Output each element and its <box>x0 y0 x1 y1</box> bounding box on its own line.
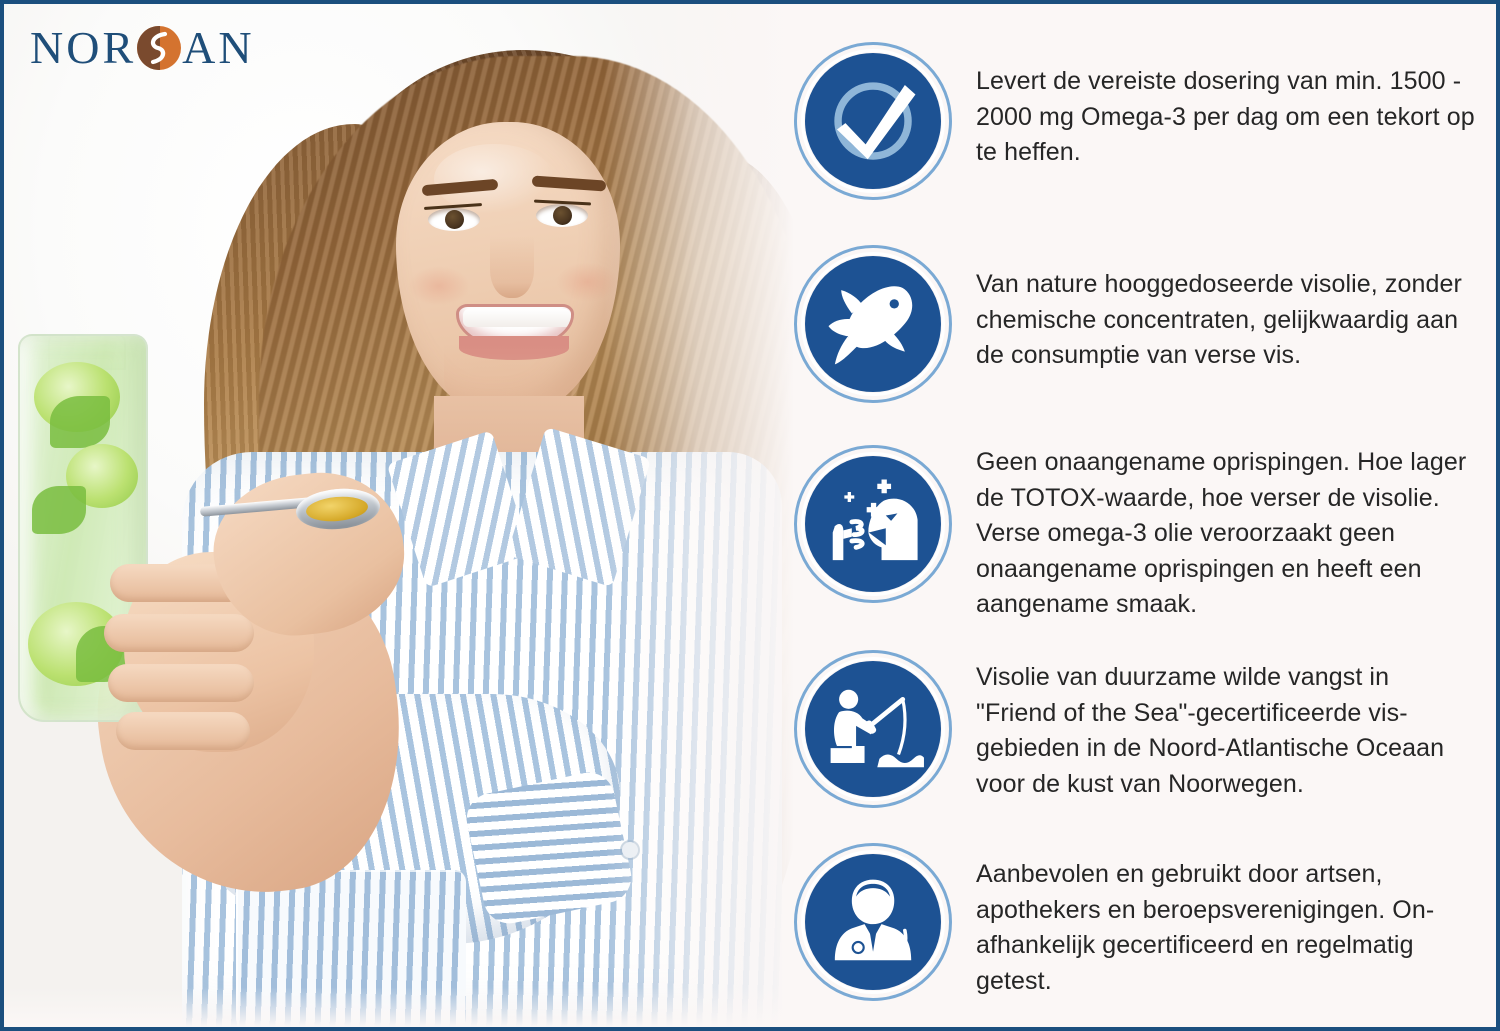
finger <box>116 712 250 750</box>
check-circle-icon <box>794 42 952 200</box>
eye-left <box>428 208 480 231</box>
feature-text: Levert de vereiste dosering van min. 150… <box>976 42 1478 171</box>
mint-leaf <box>50 396 110 448</box>
feature-text: Van nature hooggedoseerde visolie, zonde… <box>976 245 1478 374</box>
logo-text-left: NOR <box>30 25 136 71</box>
fishing-person-icon <box>794 650 952 808</box>
feature-item-sustainable-catch: Visolie van duurzame wilde vangst in "Fr… <box>794 650 1446 808</box>
teeth <box>463 309 571 327</box>
product-lifestyle-photo <box>4 4 794 1027</box>
feature-item-no-burping: Geen onaangename oprispingen. Hoe lager … <box>794 445 1478 623</box>
finger <box>108 664 254 702</box>
eye-right <box>536 204 588 227</box>
fish-icon <box>794 245 952 403</box>
cheek-left <box>408 266 470 306</box>
iris-right <box>553 206 572 225</box>
feature-item-dosage: Levert de vereiste dosering van min. 150… <box>794 42 1478 200</box>
feature-text: Visolie van duurzame wilde vangst in "Fr… <box>976 650 1446 802</box>
feature-text: Aanbevolen en gebruikt door artsen, apot… <box>976 843 1478 999</box>
shirt-pocket <box>236 870 466 1027</box>
logo-text-right: AN <box>182 25 254 71</box>
norsan-emblem-icon <box>137 26 181 70</box>
finger <box>104 614 254 652</box>
norsan-logo[interactable]: NOR AN <box>30 20 255 76</box>
shirt-button <box>622 842 638 858</box>
cheek-right <box>556 262 618 302</box>
infographic-page: NOR AN Levert de vereiste doserin <box>0 0 1500 1031</box>
feature-item-recommended-by-doctors: Aanbevolen en gebruikt door artsen, apot… <box>794 843 1478 1001</box>
feature-text: Geen onaangename oprispingen. Hoe lager … <box>976 445 1478 623</box>
mint-leaf <box>32 486 86 534</box>
feature-item-natural-fish-oil: Van nature hooggedoseerde visolie, zonde… <box>794 245 1478 403</box>
doctor-icon <box>794 843 952 1001</box>
burp-head-icon <box>794 445 952 603</box>
feature-list: Levert de vereiste dosering van min. 150… <box>794 4 1496 1027</box>
iris-left <box>445 210 464 229</box>
nose <box>490 236 534 298</box>
